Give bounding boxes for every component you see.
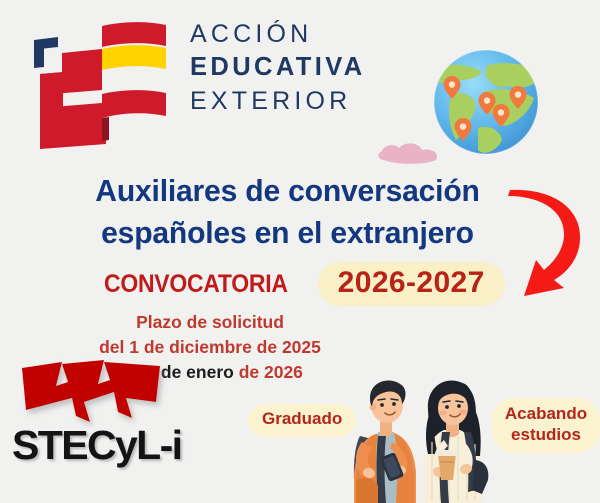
plazo-line-2: del 1 de diciembre de 2025 bbox=[0, 335, 420, 360]
headline-line-2: españoles en el extranjero bbox=[9, 212, 567, 254]
page-title: Auxiliares de conversación españoles en … bbox=[9, 170, 567, 253]
poster-canvas: ACCIÓN EDUCATIVA EXTERIOR bbox=[0, 0, 600, 503]
headline-line-1: Auxiliares de conversación bbox=[9, 170, 567, 212]
wordmark-line-1: ACCIÓN bbox=[190, 18, 405, 51]
tag-acabando-estudios: Acabando estudios bbox=[492, 398, 600, 453]
curved-down-arrow-icon bbox=[496, 186, 592, 304]
plazo-line-1: Plazo de solicitud bbox=[0, 310, 420, 335]
convocatoria-year-badge: 2026-2027 bbox=[318, 262, 505, 306]
ministry-wordmark: ACCIÓN EDUCATIVA EXTERIOR bbox=[190, 18, 405, 118]
tag-acabando-line-2: estudios bbox=[511, 425, 581, 444]
tag-graduado-label: Graduado bbox=[262, 409, 342, 428]
wordmark-line-3: EXTERIOR bbox=[190, 85, 405, 118]
wordmark-line-2: EDUCATIVA bbox=[190, 51, 405, 85]
convocatoria-row: CONVOCATORIA 2026-2027 bbox=[104, 262, 505, 306]
plazo-suffix: de 2026 bbox=[234, 362, 303, 382]
convocatoria-label: CONVOCATORIA bbox=[104, 270, 288, 299]
stecyl-logo[interactable]: STECyL-i bbox=[4, 358, 182, 498]
tag-graduado: Graduado bbox=[248, 404, 356, 437]
tag-acabando-line-1: Acabando bbox=[505, 404, 587, 423]
stecyl-wordmark: STECyL-i bbox=[12, 422, 181, 469]
pink-cloud-icon bbox=[374, 140, 446, 168]
spanish-waving-flag-emblem bbox=[14, 12, 186, 160]
